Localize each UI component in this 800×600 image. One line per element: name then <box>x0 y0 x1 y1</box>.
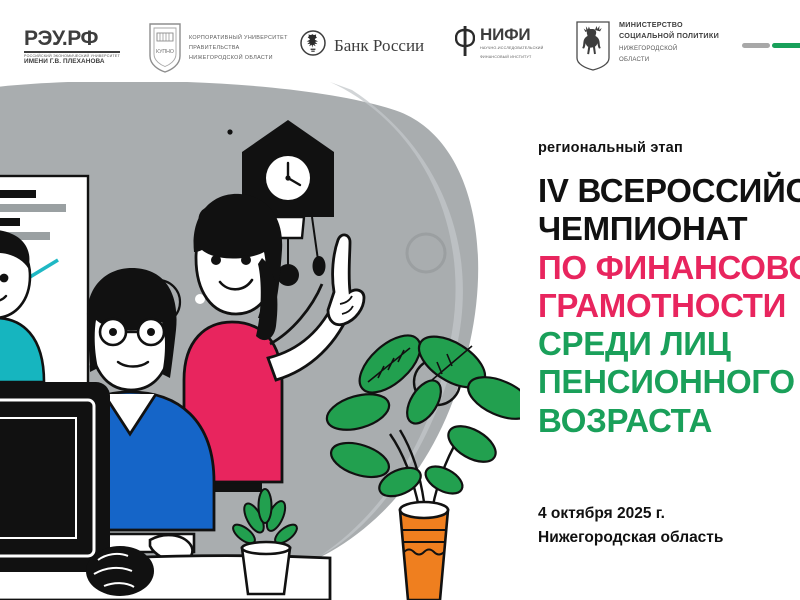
kupno-logo-text: КОРПОРАТИВНЫЙ УНИВЕРСИТЕТ ПРАВИТЕЛЬСТВА … <box>189 33 288 63</box>
nifi-word: НИФИ <box>480 26 544 43</box>
kupno-line1: КОРПОРАТИВНЫЙ УНИВЕРСИТЕТ <box>189 33 288 43</box>
event-date: 4 октября 2025 г. <box>538 502 723 526</box>
ministry-line1: МИНИСТЕРСТВО <box>619 20 719 31</box>
nifi-sub2: ФИНАНСОВЫЙ ИНСТИТУТ <box>480 55 544 61</box>
nifi-sub1: НАУЧНО-ИССЛЕДОВАТЕЛЬСКИЙ <box>480 46 544 52</box>
kupno-line3: НИЖЕГОРОДСКОЙ ОБЛАСТИ <box>189 53 288 63</box>
partner-logo-bar: РЭУ.РФ РОССИЙСКИЙ ЭКОНОМИЧЕСКИЙ УНИВЕРСИ… <box>0 0 800 82</box>
event-details: 4 октября 2025 г. Нижегородская область <box>538 502 723 550</box>
ministry-social-policy-logo: МИНИСТЕРСТВО СОЦИАЛЬНОЙ ПОЛИТИКИ НИЖЕГОР… <box>575 20 719 77</box>
headline-block: региональный этап IV ВСЕРОССИЙСКИЙ ЧЕМПИ… <box>538 140 800 440</box>
reu-logo-main: РЭУ.РФ <box>24 28 120 49</box>
computer-monitor <box>0 382 110 572</box>
kicker-text: региональный этап <box>538 140 800 156</box>
bank-rossii-logo: Банк России <box>300 30 424 61</box>
moi-finansy-bars-icon <box>742 43 800 48</box>
headline-line-7: ВОЗРАСТА <box>538 402 800 440</box>
kupno-logo: КУПНО КОРПОРАТИВНЫЙ УНИВЕРСИТЕТ ПРАВИТЕЛ… <box>148 22 288 74</box>
moi-bar-gray <box>742 43 770 48</box>
ministry-line2: СОЦИАЛЬНОЙ ПОЛИТИКИ <box>619 31 719 42</box>
event-region: Нижегородская область <box>538 526 723 550</box>
nifi-logo: НИФИ НАУЧНО-ИССЛЕДОВАТЕЛЬСКИЙ ФИНАНСОВЫЙ… <box>455 26 544 61</box>
moi-finansy-logo: мои фи <box>742 32 800 59</box>
headline-line-1: IV ВСЕРОССИЙСКИЙ <box>538 172 800 210</box>
moi-bar-green <box>772 43 800 48</box>
headline-line-2: ЧЕМПИОНАТ <box>538 210 800 248</box>
reu-logo-rule <box>24 51 120 53</box>
poster-root: РЭУ.РФ РОССИЙСКИЙ ЭКОНОМИЧЕСКИЙ УНИВЕРСИ… <box>0 0 800 600</box>
headline-line-6: ПЕНСИОННОГО <box>538 363 800 401</box>
reu-rf-logo: РЭУ.РФ РОССИЙСКИЙ ЭКОНОМИЧЕСКИЙ УНИВЕРСИ… <box>24 28 120 66</box>
ministry-line4: ОБЛАСТИ <box>619 55 719 64</box>
deer-coat-of-arms-icon <box>575 20 611 77</box>
reu-logo-sub2: ИМЕНИ Г.В. ПЛЕХАНОВА <box>24 58 120 66</box>
bank-rossii-emblem-icon <box>300 30 326 61</box>
nifi-phi-icon <box>455 26 475 61</box>
kupno-shield-icon: КУПНО <box>148 22 182 74</box>
ministry-line3: НИЖЕГОРОДСКОЙ <box>619 44 719 53</box>
kupno-line2: ПРАВИТЕЛЬСТВА <box>189 43 288 53</box>
headline-line-3: ПО ФИНАНСОВОЙ <box>538 249 800 287</box>
svg-text:КУПНО: КУПНО <box>156 49 174 55</box>
bank-rossii-label: Банк России <box>334 36 424 56</box>
finance-class-illustration <box>0 82 520 600</box>
headline-line-4: ГРАМОТНОСТИ <box>538 287 800 325</box>
headline-line-5: СРЕДИ ЛИЦ <box>538 325 800 363</box>
computer-mouse <box>86 546 154 596</box>
deco-dot-1 <box>227 129 232 134</box>
